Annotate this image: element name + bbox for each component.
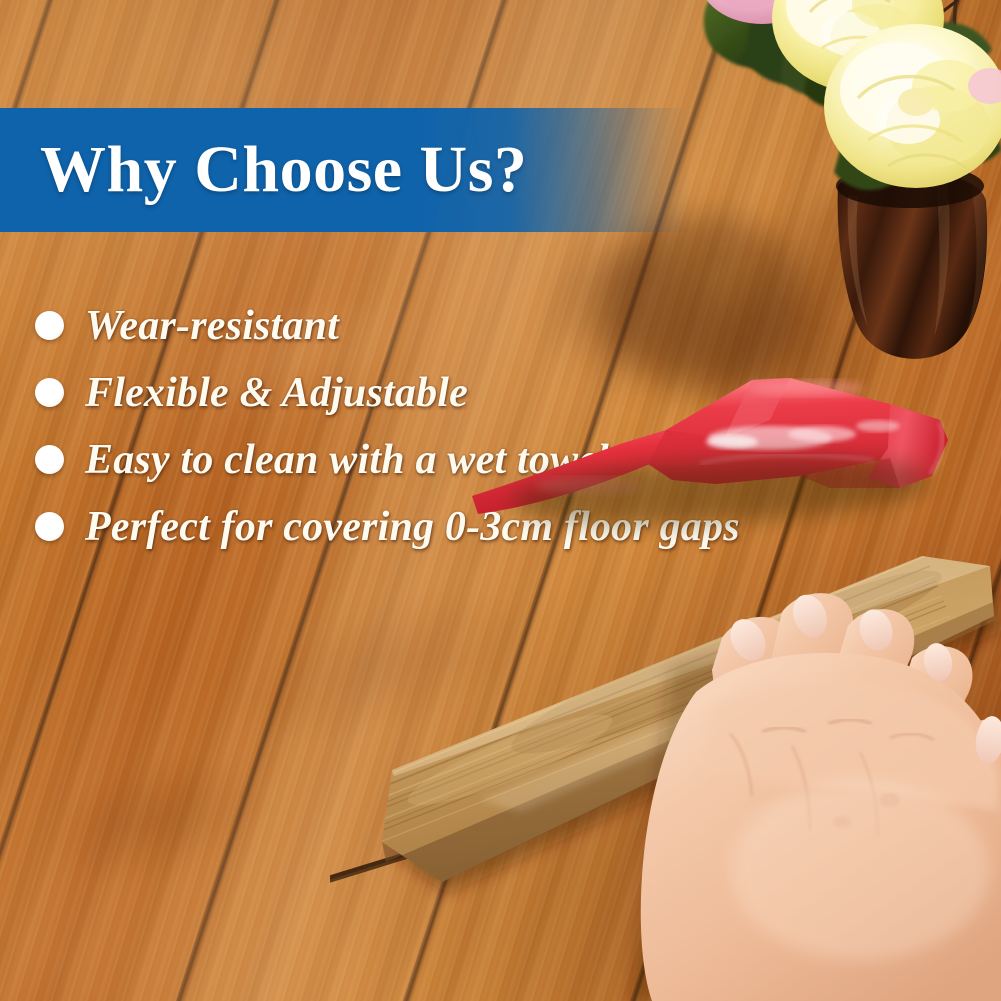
list-item: Wear-resistant <box>0 292 760 359</box>
bullet-circle-icon <box>35 445 64 474</box>
bullet-circle-icon <box>35 311 64 340</box>
product-marketing-image: Why Choose Us? Wear-resistant Flexible &… <box>0 0 1001 1001</box>
page-title: Why Choose Us? <box>40 108 680 232</box>
list-item-label: Flexible & Adjustable <box>85 369 468 417</box>
bullet-circle-icon <box>35 378 64 407</box>
bullet-circle-icon <box>35 512 64 541</box>
hand <box>630 590 1001 1001</box>
yellow-peony-lower <box>824 24 1001 188</box>
list-item-label: Wear-resistant <box>85 302 339 350</box>
transition-strip-and-hand <box>330 470 1001 1001</box>
